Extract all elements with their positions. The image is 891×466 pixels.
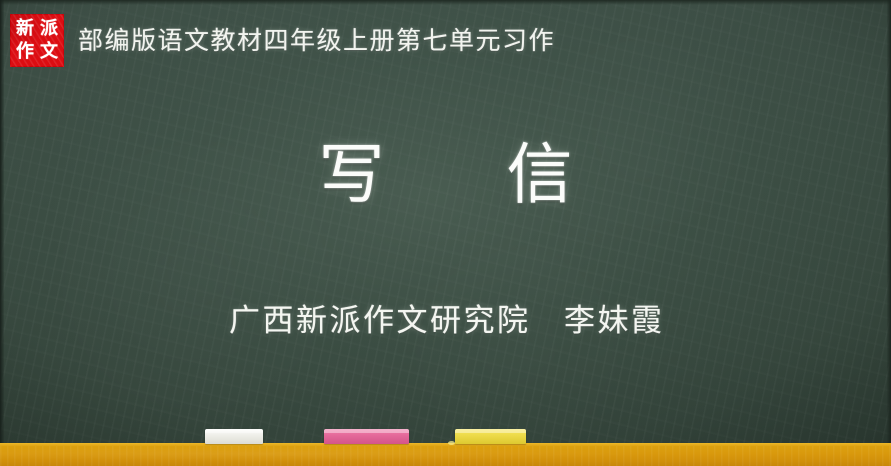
chalk-dust: [448, 441, 455, 445]
chalk-tray: [0, 443, 891, 466]
seal-characters: 新 派 作 文: [13, 17, 61, 64]
chalk-white-icon: [205, 429, 263, 444]
chalk-tray-lip: [0, 443, 891, 446]
presenter-line: 广西新派作文研究院 李妹霞: [0, 303, 891, 340]
chalk-pink-icon: [324, 429, 409, 444]
seal-char-3: 作: [13, 41, 37, 65]
page-title: 写 信: [0, 142, 891, 208]
chalk-yellow-icon: [455, 429, 526, 444]
seal-char-4: 文: [37, 41, 61, 65]
seal-char-2: 派: [37, 17, 61, 41]
course-subtitle: 部编版语文教材四年级上册第七单元习作: [78, 28, 555, 53]
header: 新 派 作 文 部编版语文教材四年级上册第七单元习作: [10, 14, 555, 67]
lesson-title-slide: 新 派 作 文 部编版语文教材四年级上册第七单元习作 写 信 广西新派作文研究院…: [0, 0, 891, 466]
red-seal-stamp-icon: 新 派 作 文: [10, 14, 64, 67]
seal-char-1: 新: [13, 17, 37, 41]
